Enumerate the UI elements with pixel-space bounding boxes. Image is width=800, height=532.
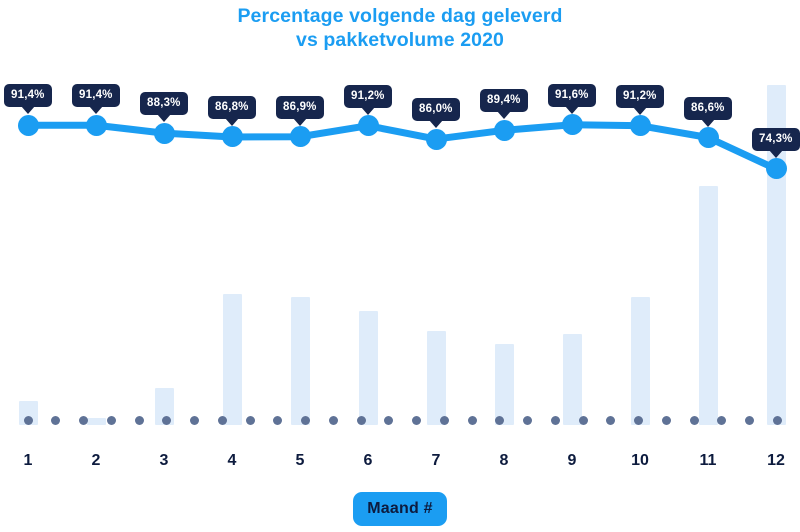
line-marker-3[interactable] [154, 123, 175, 144]
x-tick-3: 3 [160, 452, 169, 470]
x-tick-5: 5 [296, 452, 305, 470]
line-marker-7[interactable] [426, 129, 447, 150]
x-tick-1: 1 [24, 452, 33, 470]
x-axis-title-wrap: Maand # [0, 492, 800, 526]
x-tick-7: 7 [432, 452, 441, 470]
line-marker-9[interactable] [562, 114, 583, 135]
line-marker-5[interactable] [290, 126, 311, 147]
line-marker-12[interactable] [766, 158, 787, 179]
value-badge-11: 86,6% [684, 97, 732, 120]
x-axis-tick-labels: 123456789101112 [0, 452, 800, 482]
value-badge-2: 91,4% [72, 84, 120, 107]
value-badge-8: 89,4% [480, 89, 528, 112]
line-marker-10[interactable] [630, 115, 651, 136]
x-tick-11: 11 [700, 452, 717, 470]
value-badge-4: 86,8% [208, 96, 256, 119]
line-marker-8[interactable] [494, 120, 515, 141]
line-marker-4[interactable] [222, 126, 243, 147]
line-marker-2[interactable] [86, 115, 107, 136]
x-tick-9: 9 [568, 452, 577, 470]
plot-area: 91,4%91,4%88,3%86,8%86,9%91,2%86,0%89,4%… [0, 0, 800, 430]
line-series-layer [0, 0, 800, 430]
x-tick-8: 8 [500, 452, 509, 470]
value-badge-10: 91,2% [616, 85, 664, 108]
x-tick-4: 4 [228, 452, 237, 470]
x-tick-6: 6 [364, 452, 373, 470]
line-path [28, 125, 776, 169]
chart-root: Percentage volgende dag geleverd vs pakk… [0, 0, 800, 532]
value-badge-1: 91,4% [4, 84, 52, 107]
x-tick-10: 10 [631, 452, 649, 470]
line-marker-1[interactable] [18, 115, 39, 136]
line-marker-11[interactable] [698, 127, 719, 148]
value-badge-3: 88,3% [140, 92, 188, 115]
value-badge-12: 74,3% [752, 128, 800, 151]
x-axis-title-badge[interactable]: Maand # [353, 492, 446, 526]
x-tick-12: 12 [767, 452, 785, 470]
value-badge-9: 91,6% [548, 84, 596, 107]
x-tick-2: 2 [92, 452, 101, 470]
value-badge-6: 91,2% [344, 85, 392, 108]
value-badge-7: 86,0% [412, 98, 460, 121]
value-badge-5: 86,9% [276, 96, 324, 119]
line-marker-6[interactable] [358, 115, 379, 136]
